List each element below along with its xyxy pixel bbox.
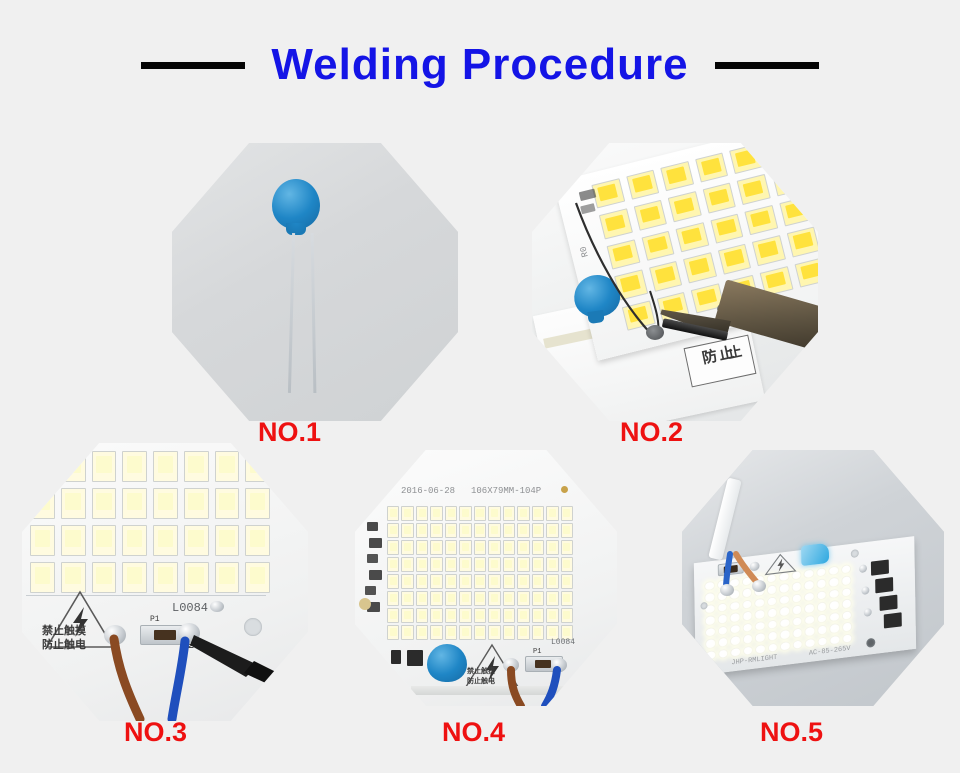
page-title: Welding Procedure bbox=[271, 42, 688, 88]
step-image-no3: 禁止触摸 防止触电 L0084 P1 N bbox=[22, 443, 308, 721]
step-caption-no5: NO.5 bbox=[760, 717, 823, 748]
step-image-no5: JHP-RMLIGHT AC-85-265V bbox=[682, 450, 944, 706]
tweezer-probe bbox=[22, 443, 308, 721]
step-caption-no1: NO.1 bbox=[258, 417, 321, 448]
blue-wire bbox=[355, 450, 617, 706]
varistor-lead-right bbox=[311, 233, 317, 393]
solder-joint bbox=[752, 580, 766, 592]
step-image-no1 bbox=[172, 143, 458, 421]
left-dash bbox=[141, 62, 245, 69]
step-caption-no4: NO.4 bbox=[442, 717, 505, 748]
welding-procedure-infographic: Welding Procedure NO.1 防止 止 bbox=[0, 0, 960, 773]
right-dash bbox=[715, 62, 819, 69]
varistor-body bbox=[272, 179, 320, 229]
solder-joint bbox=[646, 325, 664, 340]
step-caption-no2: NO.2 bbox=[620, 417, 683, 448]
component-lead-wire bbox=[532, 143, 818, 421]
step-caption-no3: NO.3 bbox=[124, 717, 187, 748]
solder-joint-2 bbox=[720, 584, 734, 596]
cable-conductors bbox=[682, 450, 944, 706]
varistor-lead-left bbox=[288, 233, 295, 393]
step-image-no2: 防止 止 R0 bbox=[532, 143, 818, 421]
step-image-no4: 2016-06-28 106X79MM-104P bbox=[355, 450, 617, 706]
page-title-row: Welding Procedure bbox=[0, 42, 960, 88]
